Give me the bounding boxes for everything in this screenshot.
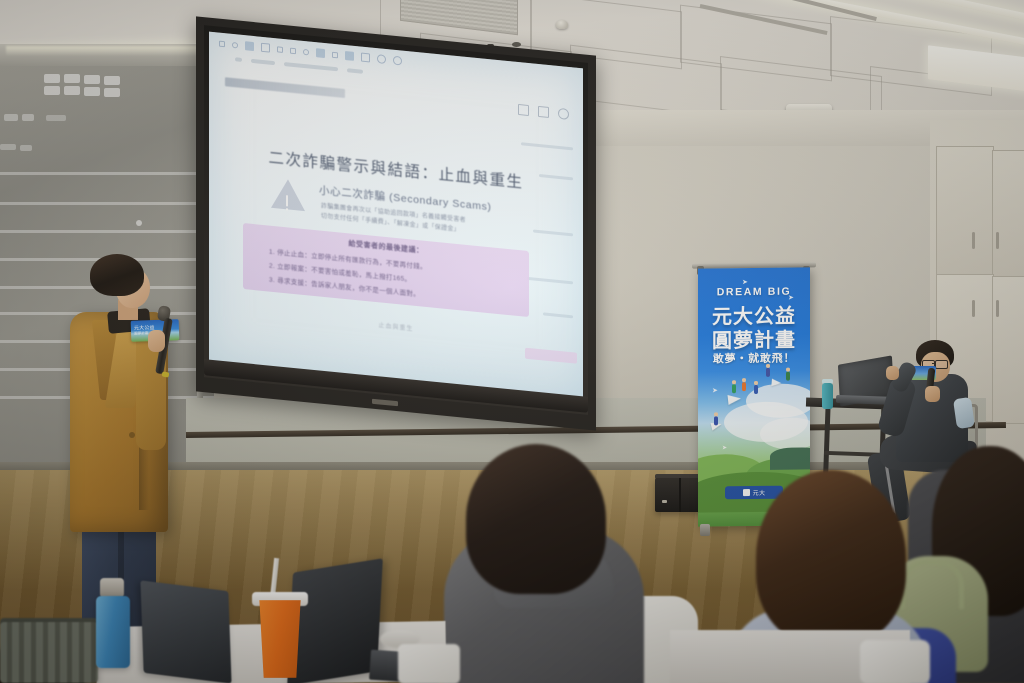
audience-head (756, 470, 906, 645)
banner-tagline: 敢夢‧就敢飛！ (698, 349, 810, 366)
cabinet-handle[interactable] (996, 300, 999, 317)
warning-exclamation-icon (286, 195, 288, 206)
cabinet-handle[interactable] (972, 300, 975, 317)
settings-icon[interactable] (393, 56, 402, 66)
orange-drink-cup (256, 600, 304, 678)
blue-water-bottle (96, 596, 130, 668)
undo-icon[interactable] (219, 40, 225, 47)
storage-cabinet[interactable] (936, 146, 994, 276)
bird-icon: ➤ (742, 278, 748, 286)
napkin (398, 644, 460, 683)
document-tab-label[interactable] (225, 77, 345, 98)
banner-logo-text: 元大 (753, 488, 766, 497)
water-bottle-cap (100, 578, 124, 598)
slide-callout-box: 給受害者的最後建議： 1. 停止止血：立即停止所有匯款行為，不要再付錢。 2. … (243, 223, 529, 317)
attendee-laptop[interactable] (287, 558, 383, 683)
paint-format-icon[interactable] (261, 43, 270, 53)
zoom-icon[interactable] (277, 46, 283, 53)
image-icon[interactable] (332, 51, 338, 58)
suitcase (0, 622, 98, 683)
share-icon[interactable] (518, 104, 529, 116)
microphone-indicator-icon (162, 371, 170, 377)
child-figure (714, 416, 718, 425)
select-icon[interactable] (303, 48, 309, 55)
eyeglasses-icon (935, 360, 948, 369)
child-figure (754, 385, 758, 394)
child-figure (732, 384, 736, 393)
sprinkler-head (556, 20, 568, 29)
blazer-button (129, 432, 135, 438)
print-icon[interactable] (245, 41, 254, 51)
banner-base-foot (700, 524, 710, 536)
eyeglasses-bridge-icon (932, 363, 936, 364)
speaker-hand (925, 386, 940, 402)
water-bottle (822, 383, 833, 409)
bird-icon: ➤ (722, 444, 727, 451)
speaker-led-icon (662, 500, 667, 503)
shape-icon[interactable] (345, 51, 354, 61)
textbox-icon[interactable] (316, 48, 325, 58)
present-icon[interactable] (538, 106, 549, 118)
presenter-hair (90, 254, 144, 296)
attendee-laptop[interactable] (140, 580, 231, 683)
napkin (860, 640, 930, 683)
projection-screen[interactable]: 二次詐騙警示與結語：止血與重生 小心二次詐騙 (Secondary Scams)… (209, 32, 583, 399)
conference-room-photo: 二次詐騙警示與結語：止血與重生 小心二次詐騙 (Secondary Scams)… (0, 0, 1024, 683)
font-name-field[interactable] (251, 59, 275, 65)
cursor-icon[interactable] (290, 47, 296, 54)
comment-icon[interactable] (377, 54, 386, 64)
font-select-icon[interactable] (235, 57, 242, 62)
toolbar-controls[interactable] (284, 62, 338, 71)
cabinet-handle[interactable] (996, 232, 999, 249)
redo-icon[interactable] (232, 41, 238, 48)
storage-cabinet[interactable] (992, 276, 1024, 424)
child-figure (742, 382, 746, 391)
bird-icon: ➤ (712, 386, 718, 394)
backpack-strap (900, 560, 964, 609)
speaker-hand-gesture (886, 366, 899, 380)
child-figure (766, 368, 770, 377)
paper-plane-icon (728, 393, 742, 404)
cabinet-handle[interactable] (972, 232, 975, 249)
storage-cabinet[interactable] (992, 150, 1024, 278)
banner-eyebrow: DREAM BIG (698, 285, 810, 298)
presenter-hand (148, 330, 165, 352)
banner-logo: 元大 (725, 486, 783, 500)
mic-flag-line2: 圓夢計畫 (134, 331, 149, 336)
partition-light-reflection (6, 46, 206, 56)
line-icon[interactable] (361, 53, 370, 63)
align-icon[interactable] (347, 68, 363, 74)
child-figure (786, 372, 790, 381)
warning-triangle-icon (271, 178, 305, 211)
warning-exclamation-dot-icon (286, 208, 288, 210)
audience-head (466, 444, 606, 594)
logo-mark-icon (743, 489, 750, 496)
smoke-detector-icon (512, 42, 521, 47)
avatar[interactable] (558, 108, 569, 120)
speaker-divider (679, 478, 681, 512)
paper-plane-icon (771, 379, 781, 387)
